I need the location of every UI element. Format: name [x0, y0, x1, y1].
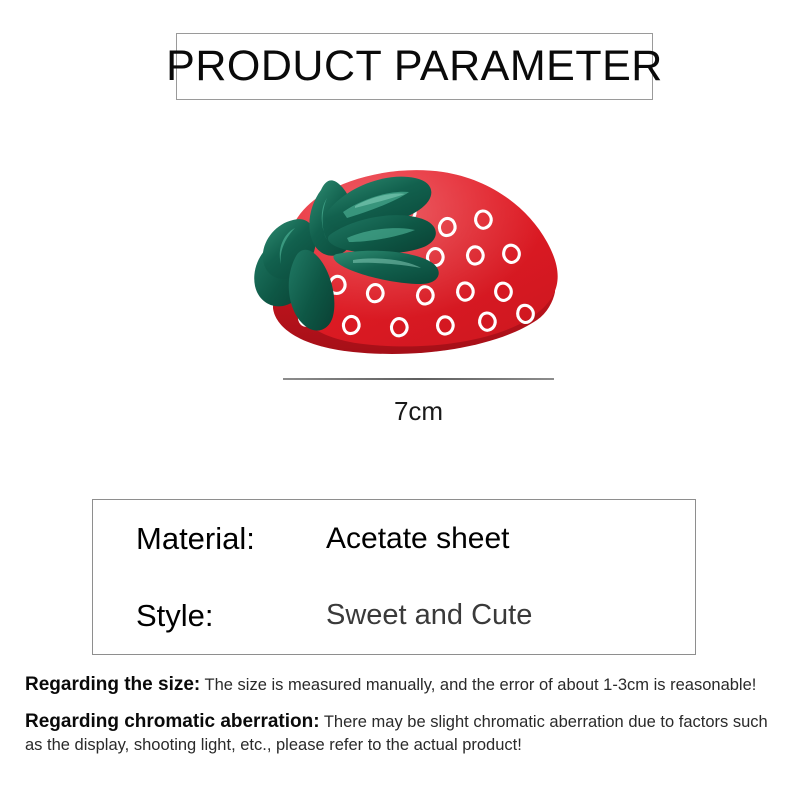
spec-table: Material: Acetate sheet Style: Sweet and… [92, 499, 696, 655]
note-size: Regarding the size: The size is measured… [25, 672, 782, 698]
spec-label-material: Material: [136, 523, 255, 554]
table-row: Material: Acetate sheet [93, 500, 695, 577]
product-image-strawberry-hair-clip [235, 150, 575, 365]
page-title-box: PRODUCT PARAMETER [176, 33, 653, 100]
spec-value-material: Acetate sheet [326, 524, 509, 554]
note-chromatic-lead: Regarding chromatic aberration: [25, 711, 320, 732]
page-title: PRODUCT PARAMETER [166, 45, 663, 88]
strawberry-icon [235, 150, 575, 365]
measurement-label: 7cm [283, 396, 554, 427]
spec-label-style: Style: [136, 600, 214, 631]
note-size-body: The size is measured manually, and the e… [200, 676, 756, 694]
note-size-lead: Regarding the size: [25, 674, 200, 695]
note-chromatic-aberration: Regarding chromatic aberration: There ma… [25, 709, 782, 757]
spec-value-style: Sweet and Cute [326, 601, 532, 630]
measurement-line [283, 378, 554, 380]
disclaimer-notes: Regarding the size: The size is measured… [25, 672, 782, 768]
table-row: Style: Sweet and Cute [93, 577, 695, 654]
